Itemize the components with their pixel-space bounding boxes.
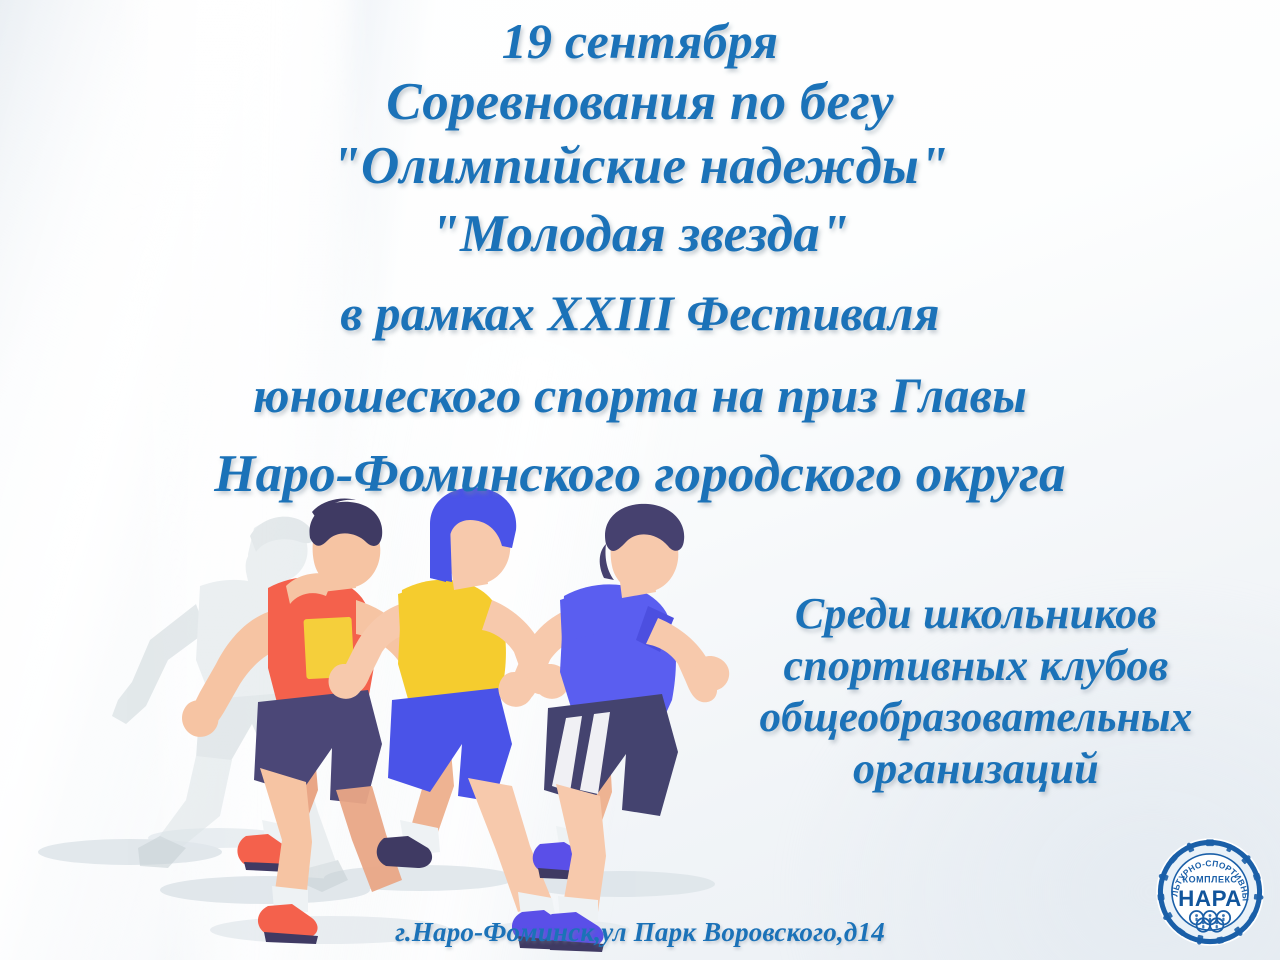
title-quoted-2: "Молодая звезда" bbox=[0, 208, 1280, 261]
audience-line-3: общеобразовательных bbox=[696, 696, 1256, 739]
address-line: г.Наро-Фоминск,ул Парк Воровского,д14 bbox=[0, 919, 1280, 946]
logo-sub-text: КОМПЛЕКС bbox=[1183, 874, 1238, 884]
ghost-runner bbox=[112, 517, 368, 892]
audience-block: Среди школьников спортивных клубов общео… bbox=[696, 592, 1256, 799]
audience-line-1: Среди школьников bbox=[696, 592, 1256, 636]
runner-blue bbox=[499, 504, 730, 952]
runner-red bbox=[182, 499, 469, 945]
okrug-line: Наро-Фоминского городского округа bbox=[0, 448, 1280, 501]
audience-line-4: организаций bbox=[696, 747, 1256, 791]
title-quoted-1: "Олимпийские надежды" bbox=[0, 140, 1280, 193]
poster-canvas: 19 сентября Соревнования по бегу "Олимпи… bbox=[0, 0, 1280, 960]
competition-line: Соревнования по бегу bbox=[0, 76, 1280, 129]
audience-line-2: спортивных клубов bbox=[696, 644, 1256, 688]
nara-sports-complex-logo: КУЛЬТУРНО-СПОРТИВНЫЙ КОМПЛЕКС НАРА bbox=[1154, 836, 1266, 948]
date-line: 19 сентября bbox=[0, 16, 1280, 66]
prize-line: юношеского спорта на приз Главы bbox=[0, 370, 1280, 420]
runner-yellow bbox=[329, 487, 570, 950]
festival-line: в рамках XXIII Фестиваля bbox=[0, 288, 1280, 338]
logo-name: НАРА bbox=[1178, 886, 1242, 911]
